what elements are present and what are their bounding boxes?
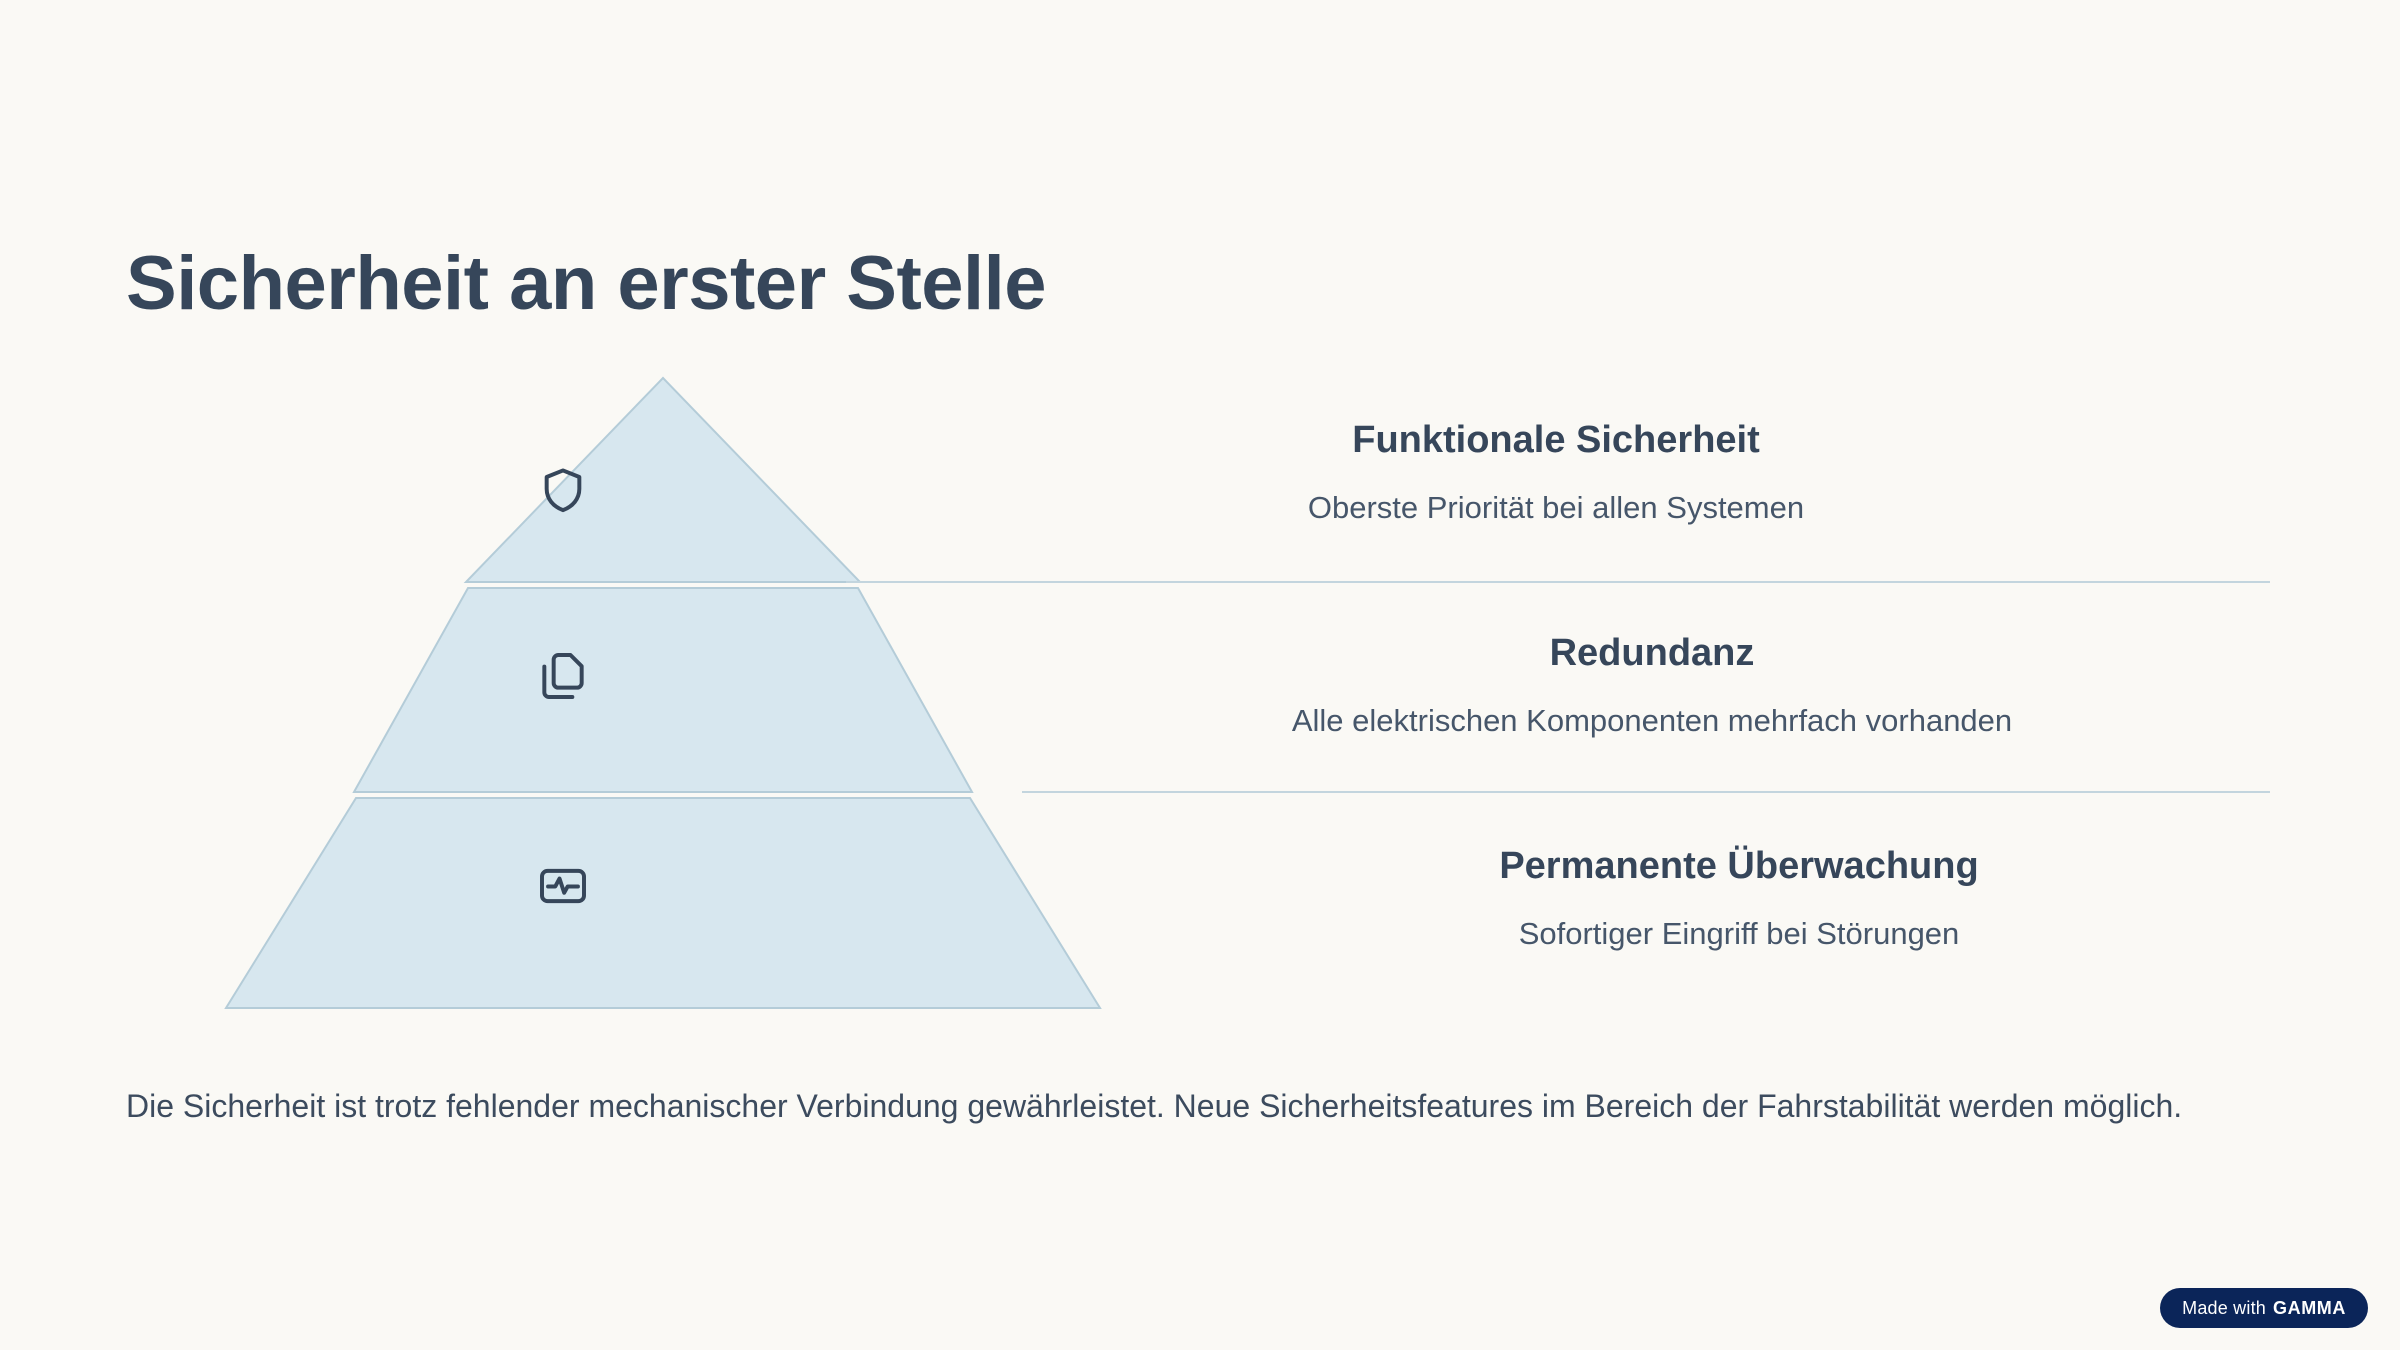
tier-1-description: Oberste Priorität bei allen Systemen [876,488,2236,528]
pyramid-tier-1-text: Funktionale Sicherheit Oberste Priorität… [876,417,2236,528]
pyramid-tier-2-text: Redundanz Alle elektrischen Komponenten … [1052,630,2252,741]
pyramid-tier-3-text: Permanente Überwachung Sofortiger Eingri… [1234,843,2244,954]
tier-1-title: Funktionale Sicherheit [876,417,2236,465]
pyramid-tier-1-shape [466,378,860,582]
tier-2-title: Redundanz [1052,630,2252,678]
pyramid-tier-2-shape [354,588,972,792]
slide-canvas: Sicherheit an erster Stelle [0,0,2400,1350]
badge-prefix-label: Made with [2182,1298,2266,1319]
badge-brand-label: GAMMA [2273,1298,2346,1319]
tier-3-title: Permanente Überwachung [1234,843,2244,891]
tier-divider-2 [1022,791,2270,793]
shield-icon [535,463,591,519]
tier-divider-1 [846,581,2270,583]
tier-2-description: Alle elektrischen Komponenten mehrfach v… [1052,701,2252,741]
pyramid-tier-3-shape [226,798,1100,1008]
made-with-gamma-badge[interactable]: Made with GAMMA [2160,1288,2368,1328]
copy-icon [535,648,591,704]
footer-note: Die Sicherheit ist trotz fehlender mecha… [126,1082,2186,1132]
activity-monitor-icon [535,858,591,914]
page-title: Sicherheit an erster Stelle [126,241,1046,326]
tier-3-description: Sofortiger Eingriff bei Störungen [1234,914,2244,954]
